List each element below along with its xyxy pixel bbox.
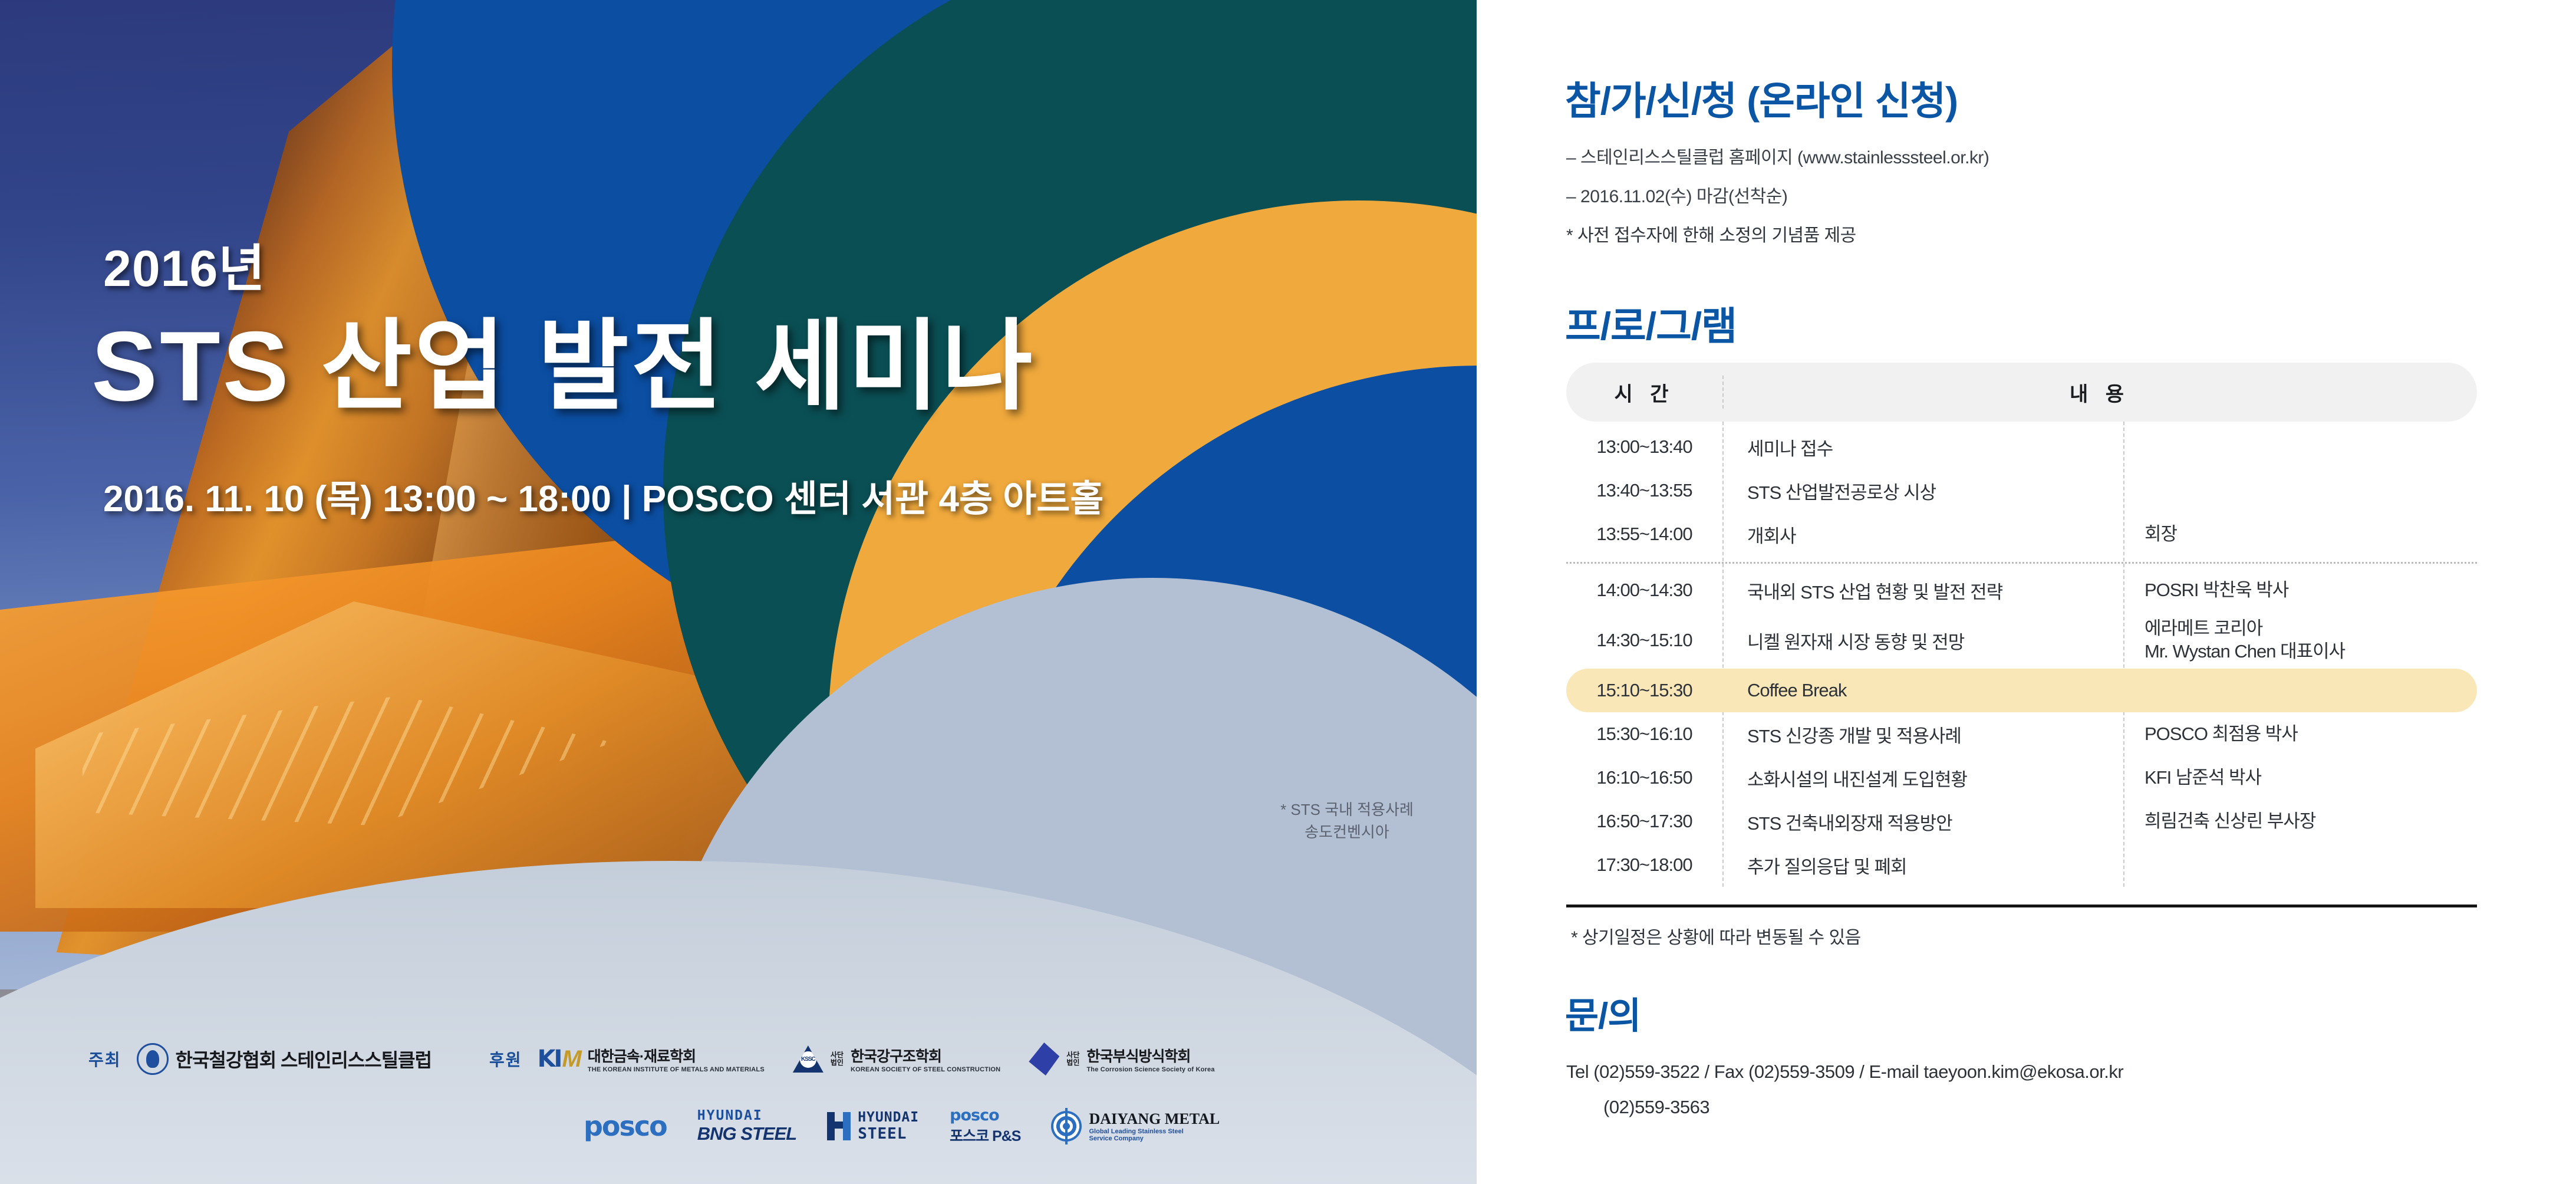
poster-page: 2016년 STS 산업 발전 세미나 2016. 11. 10 (목) 13:… (0, 0, 2576, 1184)
table-row: 14:30~15:10니켈 원자재 시장 동향 및 전망에라메트 코리아Mr. … (1566, 612, 2477, 669)
cell-topic: STS 신강종 개발 및 적용사례 (1722, 721, 2123, 748)
host-label: 주최 (88, 1047, 121, 1071)
kim-mark-icon: KIM (538, 1045, 581, 1073)
hyundai-line-2: STEEL (858, 1125, 919, 1143)
program-section-heading: 프/로/그/램 (1565, 295, 1737, 351)
table-row: 15:30~16:10STS 신강종 개발 및 적용사례POSCO 최점용 박사 (1566, 712, 2477, 756)
photo-credit-line-1: * STS 국내 적용사례 (1229, 799, 1465, 821)
table-group-separator (1566, 562, 2477, 564)
cell-time: 14:00~14:30 (1566, 580, 1722, 601)
sponsor-kssc-en: KOREAN SOCIETY OF STEEL CONSTRUCTION (851, 1066, 1000, 1073)
cell-time: 17:30~18:00 (1566, 854, 1722, 876)
cell-topic: 소화시설의 내진설계 도입현황 (1722, 765, 2123, 791)
table-row: 15:10~15:30Coffee Break (1566, 669, 2477, 712)
cell-topic: Coffee Break (1722, 680, 2123, 701)
column-header-time: 시 간 (1566, 363, 1722, 422)
apply-section-heading: 참/가/신/청 (온라인 신청) (1565, 70, 1958, 126)
cell-time: 15:30~16:10 (1566, 723, 1722, 745)
cell-time: 16:10~16:50 (1566, 767, 1722, 788)
cell-topic: 니켈 원자재 시장 동향 및 전망 (1722, 627, 2123, 654)
cell-topic: STS 건축내외장재 적용방안 (1722, 808, 2123, 835)
table-row: 13:55~14:00개회사회장 (1566, 512, 2477, 556)
bng-line-2: BNG STEEL (697, 1123, 796, 1144)
poster-subtitle: 2016. 11. 10 (목) 13:00 ~ 18:00 | POSCO 센… (103, 469, 1103, 522)
posco-pns-line-2: 포스코 P&S (950, 1124, 1020, 1146)
sponsor-kssc-name: 한국강구조학회 (851, 1045, 1000, 1066)
sponsor-cssk-name: 한국부식방식학회 (1086, 1045, 1214, 1066)
table-row: 13:40~13:55STS 산업발전공로상 시상 (1566, 469, 2477, 512)
cell-topic: 세미나 접수 (1722, 434, 2123, 461)
logo-korea-iron-steel-association: 한국철강협회 스테인리스스틸클럽 (137, 1043, 432, 1075)
host-name: 한국철강협회 스테인리스스틸클럽 (176, 1045, 432, 1073)
poster-visual-panel: 2016년 STS 산업 발전 세미나 2016. 11. 10 (목) 13:… (0, 0, 1477, 1184)
posco-pns-line-1: posco (950, 1106, 1020, 1124)
info-panel: 참/가/신/청 (온라인 신청) – 스테인리스스틸클럽 홈페이지 (www.s… (1477, 0, 2576, 1184)
steel-association-emblem-icon (137, 1043, 169, 1075)
kssc-prefix: 사단법인 (831, 1051, 844, 1066)
program-table-body: 13:00~13:40세미나 접수13:40~13:55STS 산업발전공로상 … (1566, 422, 2477, 887)
logo-kssc: KSSC 사단법인 한국강구조학회 KOREAN SOCIETY OF STEE… (793, 1045, 1000, 1073)
contact-section-heading: 문/의 (1565, 986, 1641, 1039)
daiyang-target-icon (1051, 1111, 1082, 1142)
hyundai-line-1: HYUNDAI (858, 1110, 919, 1125)
sponsor-kim-en: THE KOREAN INSTITUTE OF METALS AND MATER… (588, 1066, 765, 1073)
logo-kim: KIM 대한금속·재료학회 THE KOREAN INSTITUTE OF ME… (538, 1045, 765, 1073)
cell-speaker: KFI 남준석 박사 (2123, 767, 2477, 790)
kssc-triangle-icon: KSSC (793, 1045, 823, 1073)
sponsor-row-primary: 주최 한국철강협회 스테인리스스틸클럽 후원 KIM 대한금속·재료학회 THE… (88, 1042, 1215, 1076)
cell-topic: STS 산업발전공로상 시상 (1722, 478, 2123, 504)
bng-line-1: HYUNDAI (697, 1108, 796, 1123)
table-bottom-rule (1566, 905, 2477, 907)
cell-topic: 국내외 STS 산업 현황 및 발전 전략 (1722, 577, 2123, 604)
cell-time: 14:30~15:10 (1566, 630, 1722, 651)
daiyang-tag-2: Service Company (1089, 1135, 1220, 1142)
column-header-content: 내 용 (1722, 363, 2477, 422)
cell-speaker: 회장 (2123, 523, 2477, 546)
table-row: 14:00~14:30국내외 STS 산업 현황 및 발전 전략POSRI 박찬… (1566, 568, 2477, 612)
logo-cssk: 사단법인 한국부식방식학회 The Corrosion Science Soci… (1029, 1042, 1214, 1076)
hyundai-h-icon (827, 1112, 851, 1140)
contact-line-1: Tel (02)559-3522 / Fax (02)559-3509 / E-… (1566, 1061, 2123, 1083)
cell-speaker: POSCO 최점용 박사 (2123, 723, 2477, 746)
cell-time: 13:40~13:55 (1566, 480, 1722, 501)
sponsor-row-secondary: posco HYUNDAI BNG STEEL HYUNDAI STEEL po… (584, 1106, 1220, 1146)
logo-posco-pns: posco 포스코 P&S (950, 1106, 1020, 1146)
program-table-header: 시 간 내 용 (1566, 363, 2477, 422)
photo-credit: * STS 국내 적용사례 송도컨벤시아 (1229, 799, 1465, 843)
logo-daiyang-metal: DAIYANG METAL Global Leading Stainless S… (1051, 1110, 1220, 1142)
program-note: * 상기일정은 상황에 따라 변동될 수 있음 (1571, 923, 1861, 949)
table-row: 13:00~13:40세미나 접수 (1566, 425, 2477, 469)
logo-hyundai-steel: HYUNDAI STEEL (827, 1110, 919, 1143)
daiyang-name: DAIYANG METAL (1089, 1110, 1220, 1128)
sponsor-label: 후원 (489, 1047, 522, 1071)
contact-line-2: (02)559-3563 (1603, 1097, 1709, 1118)
cell-topic: 추가 질의응답 및 폐회 (1722, 852, 2123, 879)
table-row: 16:10~16:50소화시설의 내진설계 도입현황KFI 남준석 박사 (1566, 756, 2477, 800)
sponsor-section: 주최 한국철강협회 스테인리스스틸클럽 후원 KIM 대한금속·재료학회 THE… (0, 1031, 1477, 1166)
logo-hyundai-bng-steel: HYUNDAI BNG STEEL (697, 1108, 796, 1144)
cell-speaker: 희림건축 신상린 부사장 (2123, 810, 2477, 833)
photo-credit-line-2: 송도컨벤시아 (1229, 821, 1465, 844)
cell-time: 16:50~17:30 (1566, 811, 1722, 832)
cell-speaker: 에라메트 코리아Mr. Wystan Chen 대표이사 (2123, 617, 2477, 663)
cell-topic: 개회사 (1722, 521, 2123, 548)
cell-speaker: POSRI 박찬욱 박사 (2123, 579, 2477, 602)
program-table: 시 간 내 용 13:00~13:40세미나 접수13:40~13:55STS … (1566, 363, 2477, 907)
sponsor-cssk-en: The Corrosion Science Society of Korea (1086, 1066, 1214, 1073)
cell-time: 13:00~13:40 (1566, 436, 1722, 458)
apply-line-2: – 2016.11.02(수) 마감(선착순) (1566, 182, 1989, 208)
table-row: 16:50~17:30STS 건축내외장재 적용방안희림건축 신상린 부사장 (1566, 800, 2477, 843)
apply-note: * 사전 접수자에 한해 소정의 기념품 제공 (1566, 221, 1989, 246)
cell-time: 13:55~14:00 (1566, 524, 1722, 545)
table-row: 17:30~18:00추가 질의응답 및 폐회 (1566, 843, 2477, 887)
sponsor-kim-name: 대한금속·재료학회 (588, 1045, 765, 1066)
poster-title: STS 산업 발전 세미나 (91, 286, 1035, 429)
daiyang-tag-1: Global Leading Stainless Steel (1089, 1128, 1220, 1135)
apply-line-1: – 스테인리스스틸클럽 홈페이지 (www.stainlesssteel.or.… (1566, 143, 1989, 169)
cssk-prefix: 사단법인 (1066, 1051, 1079, 1066)
logo-posco: posco (584, 1110, 667, 1142)
cell-time: 15:10~15:30 (1566, 680, 1722, 701)
cssk-diamond-icon (1029, 1042, 1059, 1076)
apply-details: – 스테인리스스틸클럽 홈페이지 (www.stainlesssteel.or.… (1566, 143, 1989, 246)
